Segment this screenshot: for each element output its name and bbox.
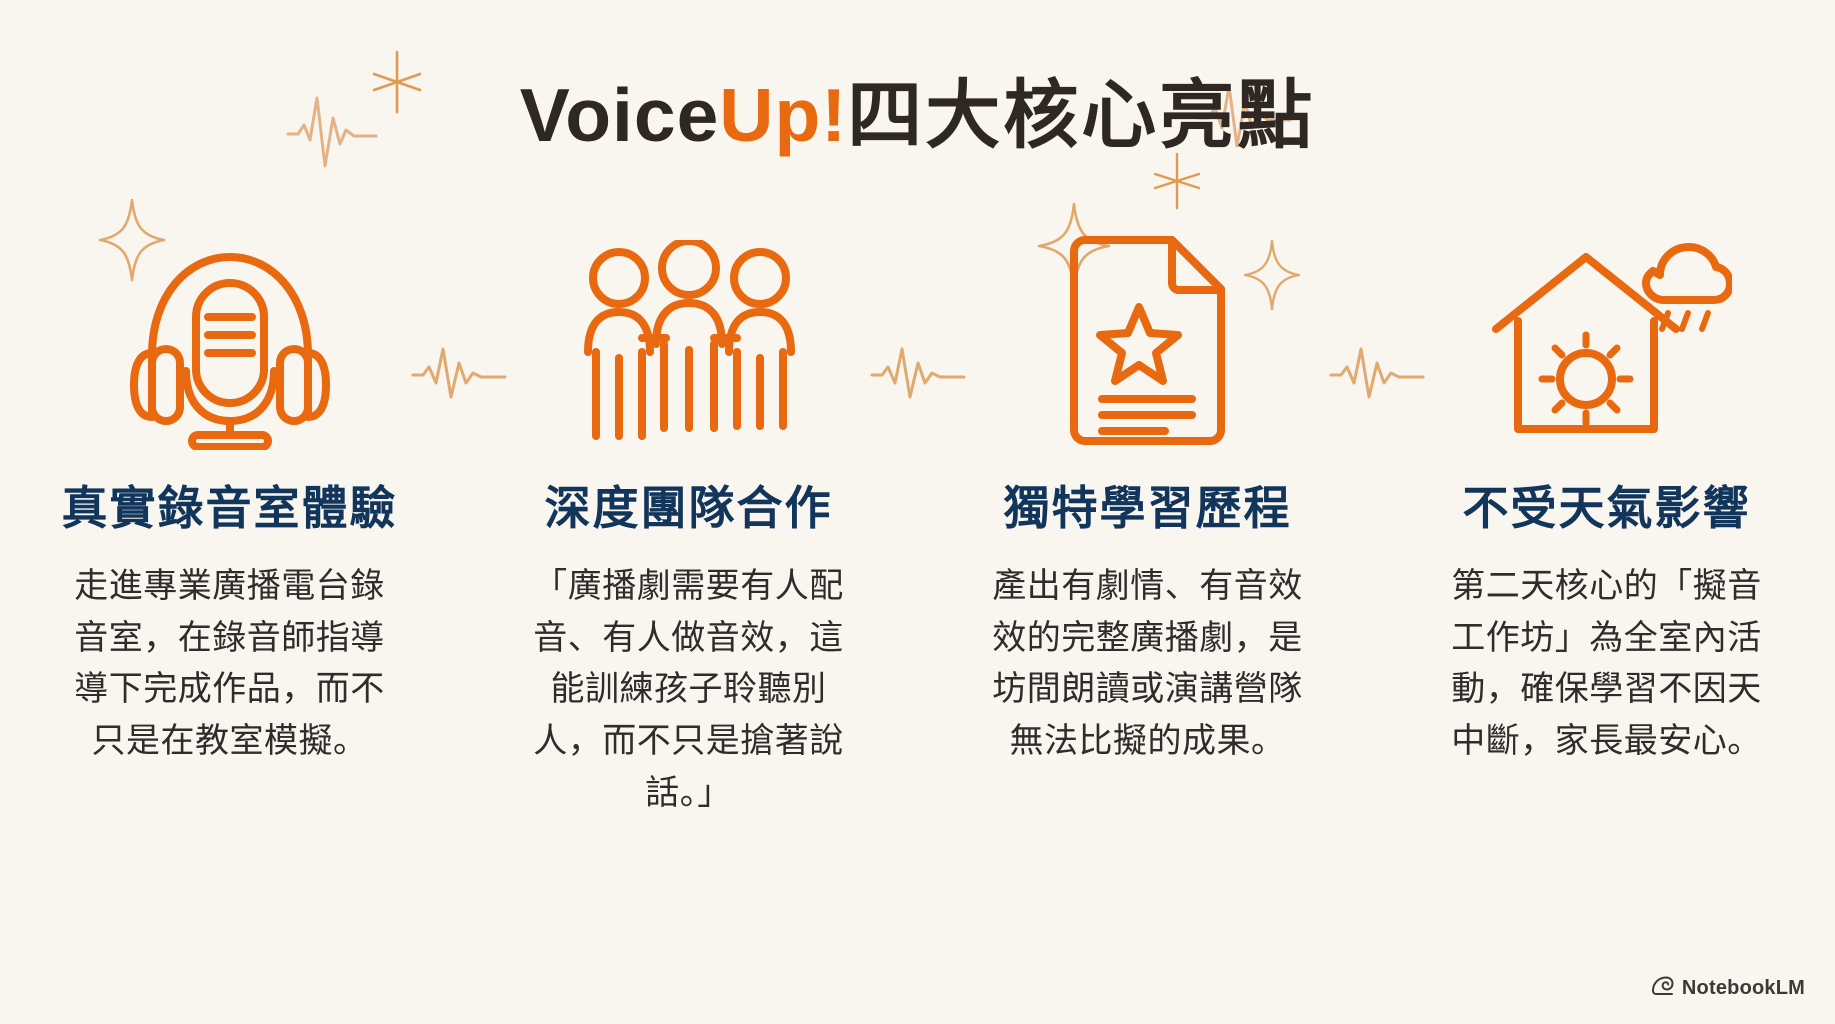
feature-body-4: 第二天核心的「擬音工作坊」為全室內活動，確保學習不因天中斷，家長最安心。	[1437, 561, 1777, 768]
feature-body-3: 產出有劇情、有音效效的完整廣播劇，是坊間朗讀或演講營隊無法比擬的成果。	[978, 561, 1318, 768]
feature-body-1: 走進專業廣播電台錄音室，在錄音師指導導下完成作品，而不只是在教室模擬。	[60, 561, 400, 768]
title-english-up: Up!	[719, 78, 847, 153]
microphone-headphones-icon	[48, 225, 411, 460]
feature-column-4: 不受天氣影響 第二天核心的「擬音工作坊」為全室內活動，確保學習不因天中斷，家長最…	[1425, 225, 1788, 768]
house-weather-icon	[1425, 225, 1788, 460]
audio-waveform-icon	[870, 225, 966, 403]
slide-root: Voice Up! 四大核心亮點	[0, 0, 1835, 1024]
notebooklm-spiral-icon	[1652, 975, 1674, 1002]
title-english-voice: Voice	[520, 78, 720, 153]
feature-body-2: 「廣播劇需要有人配音、有人做音效，這能訓練孩子聆聽別人，而不只是搶著說話。」	[519, 561, 859, 819]
feature-heading-1: 真實錄音室體驗	[62, 482, 398, 535]
feature-heading-4: 不受天氣影響	[1463, 482, 1751, 535]
sparkle-star-icon	[1150, 150, 1204, 217]
feature-column-3: 獨特學習歷程 產出有劇情、有音效效的完整廣播劇，是坊間朗讀或演講營隊無法比擬的成…	[966, 225, 1329, 768]
certificate-document-star-icon	[966, 225, 1329, 460]
title-chinese: 四大核心亮點	[847, 78, 1315, 153]
feature-heading-3: 獨特學習歷程	[1004, 482, 1292, 535]
feature-columns: 真實錄音室體驗 走進專業廣播電台錄音室，在錄音師指導導下完成作品，而不只是在教室…	[48, 225, 1788, 819]
audio-waveform-icon	[1329, 225, 1425, 403]
team-group-icon	[507, 225, 870, 460]
feature-column-1: 真實錄音室體驗 走進專業廣播電台錄音室，在錄音師指導導下完成作品，而不只是在教室…	[48, 225, 411, 768]
audio-waveform-icon	[411, 225, 507, 403]
feature-heading-2: 深度團隊合作	[545, 482, 833, 535]
feature-column-2: 深度團隊合作 「廣播劇需要有人配音、有人做音效，這能訓練孩子聆聽別人，而不只是搶…	[507, 225, 870, 819]
notebooklm-logo: NotebookLM	[1652, 975, 1805, 1002]
notebooklm-logo-text: NotebookLM	[1682, 977, 1805, 1000]
page-title: Voice Up! 四大核心亮點	[0, 78, 1835, 153]
